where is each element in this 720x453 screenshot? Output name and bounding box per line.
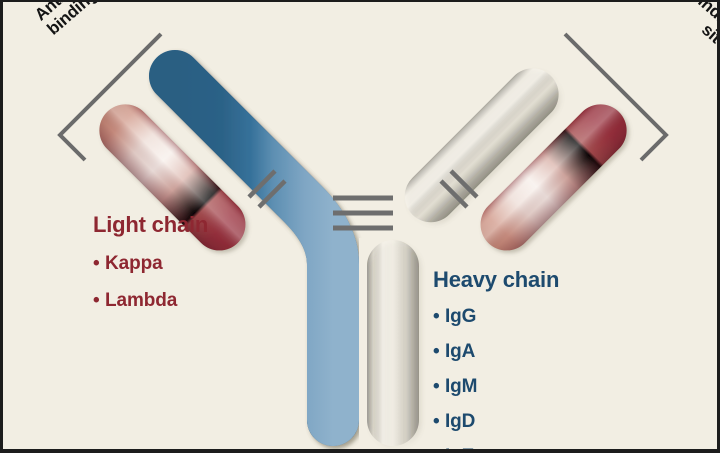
heavy-chain-item-ige-label: IgE: [445, 446, 474, 453]
heavy-chain-item-igm: •IgM: [433, 377, 559, 396]
bullet-icon: •: [93, 254, 105, 273]
heavy-chain-legend: Heavy chain •IgG •IgA •IgM •IgD •IgE: [433, 269, 559, 453]
light-chain-item-kappa-label: Kappa: [105, 253, 163, 274]
bullet-icon: •: [433, 447, 445, 453]
light-chain-legend: Light chain •Kappa •Lambda: [93, 214, 208, 310]
bullet-icon: •: [433, 307, 445, 326]
light-chain-title: Light chain: [93, 214, 208, 236]
bullet-icon: •: [433, 377, 445, 396]
light-chain-item-lambda-label: Lambda: [105, 290, 177, 311]
heavy-chain-item-ige: •IgE: [433, 447, 559, 453]
heavy-chain-item-igd: •IgD: [433, 412, 559, 431]
heavy-chain-item-igd-label: IgD: [445, 411, 475, 432]
light-chain-item-lambda: •Lambda: [93, 291, 208, 310]
diagram-stage: Antigen binding site Antigen binding sit…: [3, 2, 720, 453]
heavy-chain-item-igm-label: IgM: [445, 376, 477, 397]
light-chain-item-kappa: •Kappa: [93, 254, 208, 273]
antibody-diagram-figure: Antigen binding site Antigen binding sit…: [0, 0, 720, 453]
bullet-icon: •: [433, 412, 445, 431]
heavy-chain-item-iga-label: IgA: [445, 341, 475, 362]
bullet-icon: •: [93, 291, 105, 310]
heavy-chain-item-iga: •IgA: [433, 342, 559, 361]
heavy-chain-item-igg-label: IgG: [445, 306, 476, 327]
bullet-icon: •: [433, 342, 445, 361]
heavy-chain-title: Heavy chain: [433, 269, 559, 291]
heavy-chain-item-igg: •IgG: [433, 307, 559, 326]
